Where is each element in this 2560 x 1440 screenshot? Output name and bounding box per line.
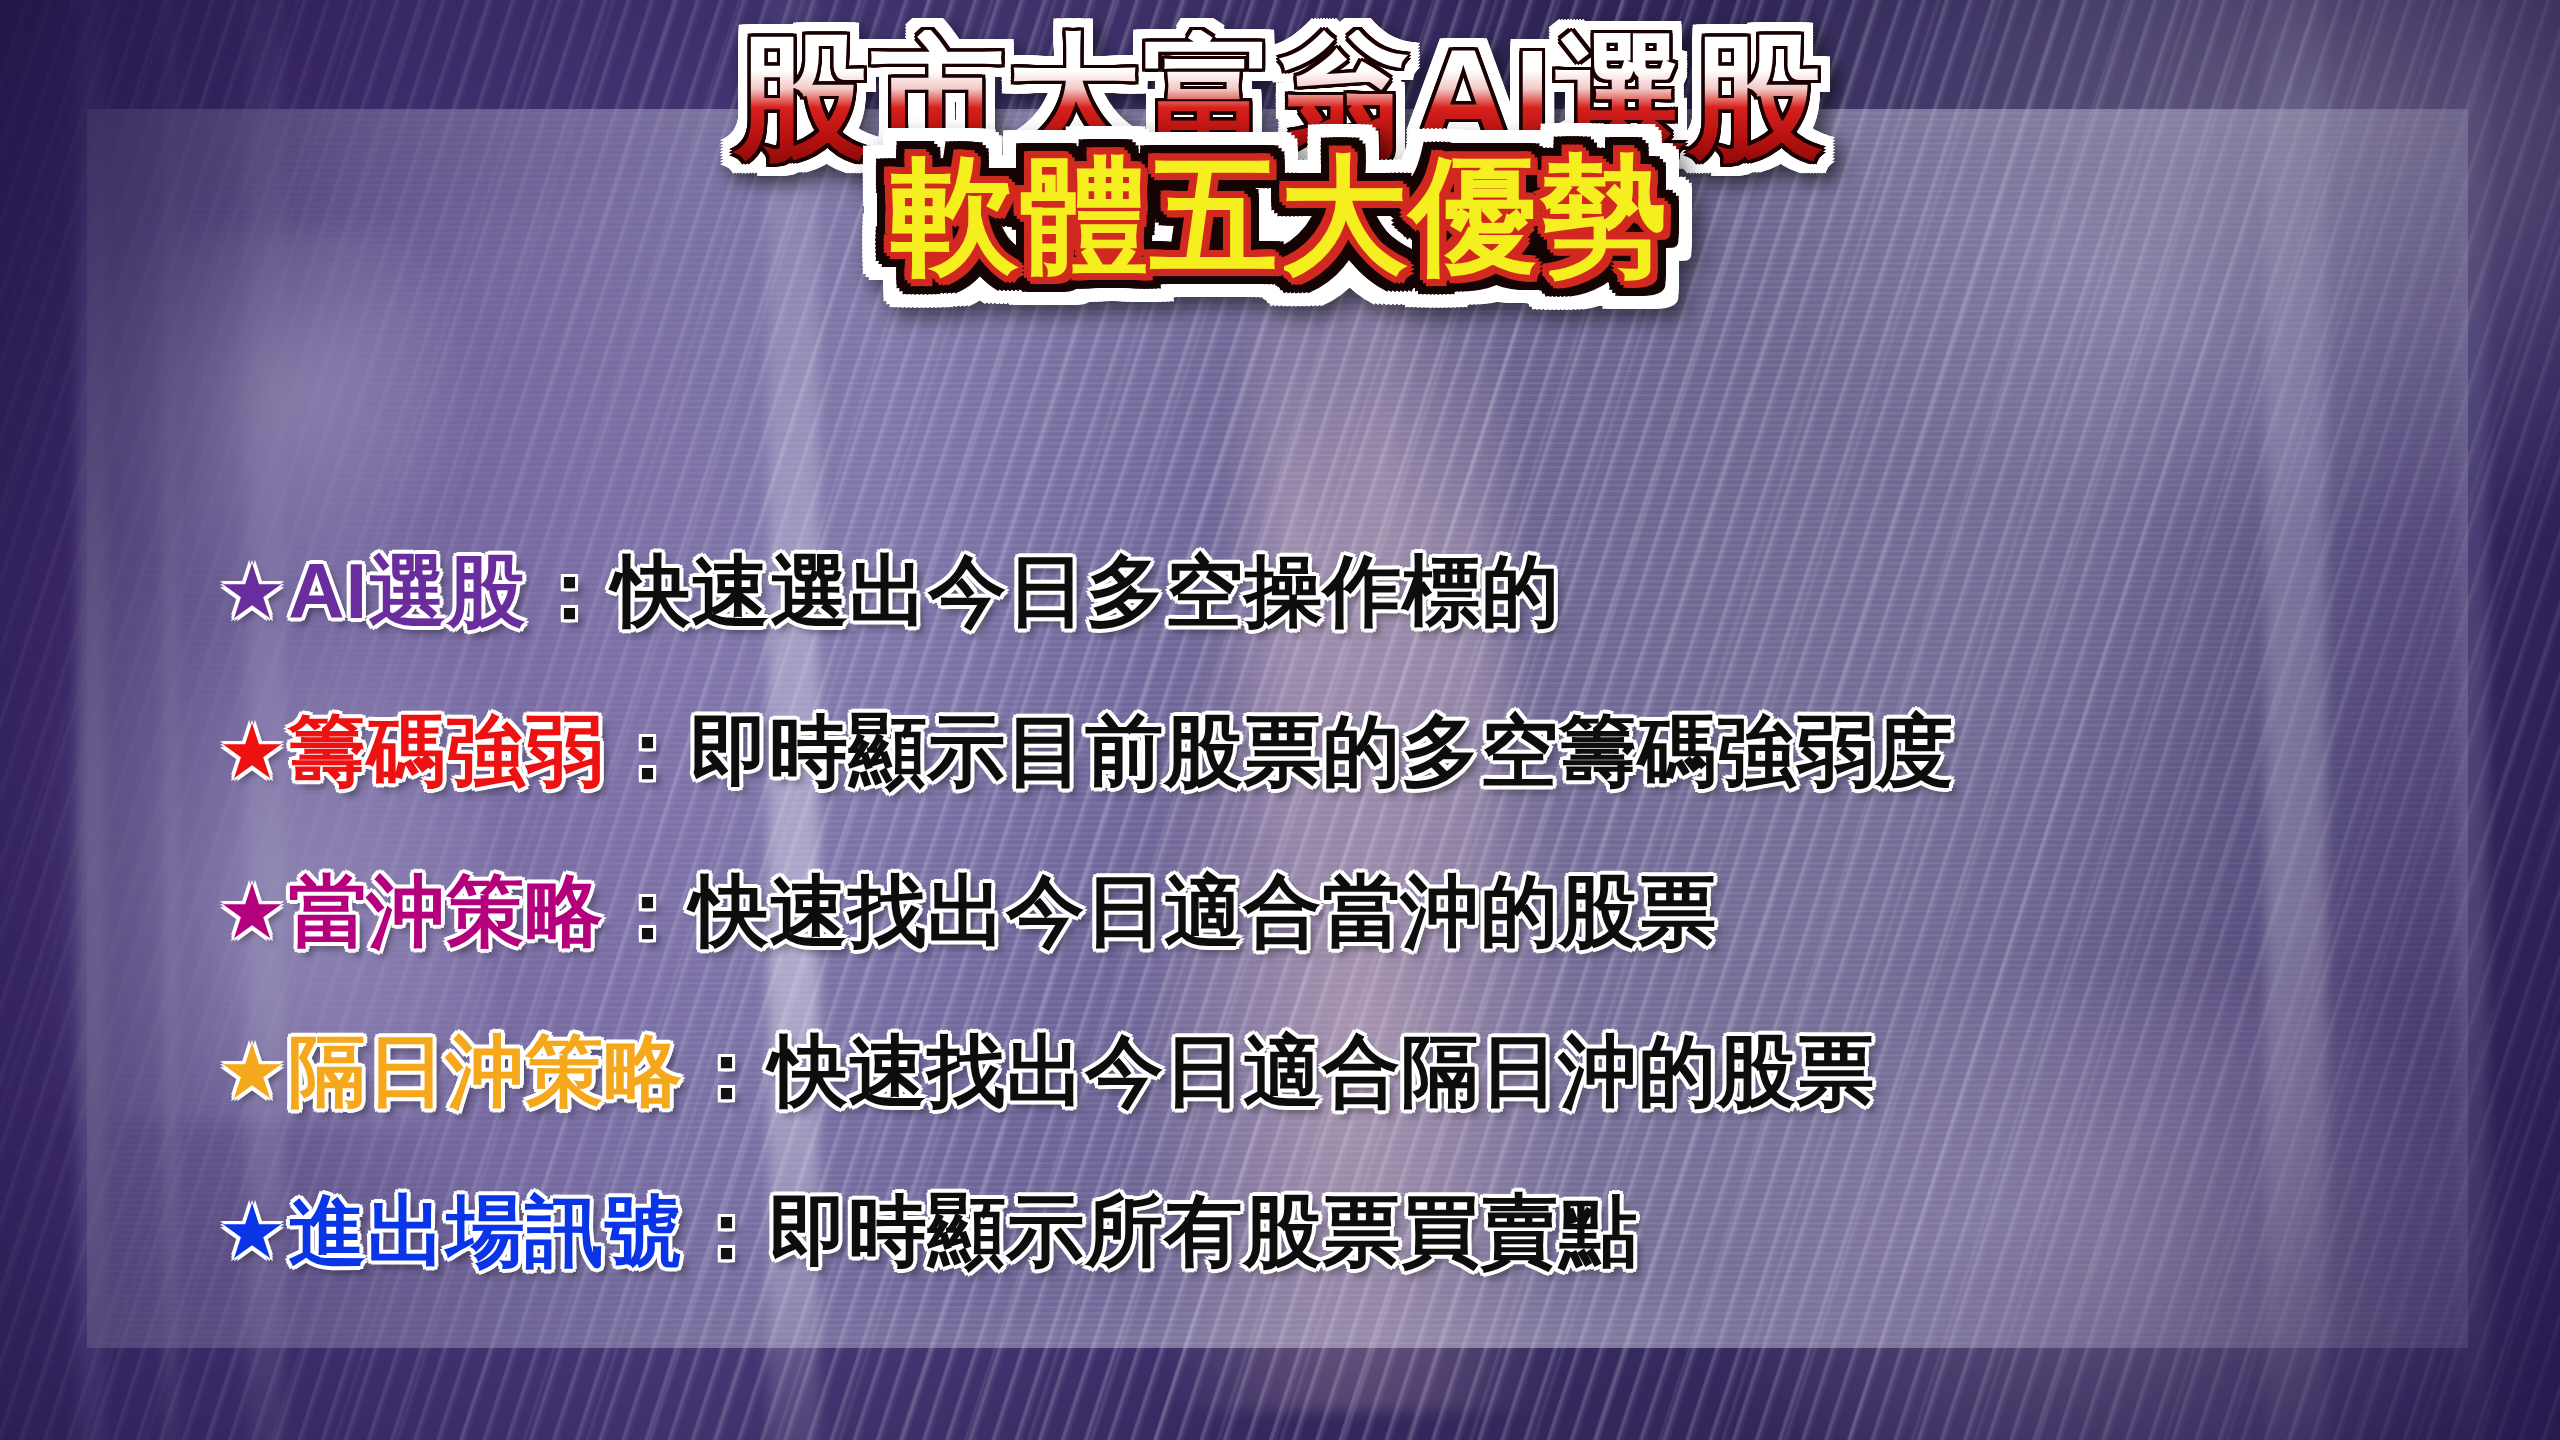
feature-list-item: ★當沖策略：快速找出今日適合當沖的股票 xyxy=(218,860,2560,1020)
star-icon: ★ xyxy=(218,554,286,630)
feature-item-separator: ： xyxy=(683,1020,769,1125)
feature-item-description: 即時顯示目前股票的多空籌碼強弱度 xyxy=(690,700,1954,805)
poster-headline: 股市大富翁AI選股 軟體五大優勢 xyxy=(0,30,2560,280)
feature-list: ★AI選股：快速選出今日多空操作標的★籌碼強弱：即時顯示目前股票的多空籌碼強弱度… xyxy=(0,540,2560,1340)
feature-item-key: 籌碼強弱 xyxy=(288,700,604,805)
feature-list-item: ★進出場訊號：即時顯示所有股票買賣點 xyxy=(218,1180,2560,1340)
star-icon: ★ xyxy=(218,714,286,790)
star-icon: ★ xyxy=(218,1034,286,1110)
feature-list-item: ★隔日沖策略：快速找出今日適合隔日沖的股票 xyxy=(218,1020,2560,1180)
poster-canvas: 股市大富翁AI選股 軟體五大優勢 ★AI選股：快速選出今日多空操作標的★籌碼強弱… xyxy=(0,0,2560,1440)
feature-item-separator: ： xyxy=(526,540,612,645)
headline-line-2: 軟體五大優勢 xyxy=(0,152,2560,280)
feature-item-key: AI選股 xyxy=(288,540,526,645)
feature-list-item: ★籌碼強弱：即時顯示目前股票的多空籌碼強弱度 xyxy=(218,700,2560,860)
feature-item-separator: ： xyxy=(604,700,690,805)
star-icon: ★ xyxy=(218,874,286,950)
feature-item-description: 即時顯示所有股票買賣點 xyxy=(769,1180,1638,1285)
feature-item-separator: ： xyxy=(683,1180,769,1285)
poster-content: 股市大富翁AI選股 軟體五大優勢 ★AI選股：快速選出今日多空操作標的★籌碼強弱… xyxy=(0,0,2560,1440)
feature-item-key: 隔日沖策略 xyxy=(288,1020,683,1125)
feature-item-description: 快速找出今日適合當沖的股票 xyxy=(690,860,1717,965)
feature-list-item: ★AI選股：快速選出今日多空操作標的 xyxy=(218,540,2560,700)
feature-item-description: 快速選出今日多空操作標的 xyxy=(612,540,1560,645)
feature-item-key: 進出場訊號 xyxy=(288,1180,683,1285)
feature-item-separator: ： xyxy=(604,860,690,965)
star-icon: ★ xyxy=(218,1194,286,1270)
feature-item-description: 快速找出今日適合隔日沖的股票 xyxy=(769,1020,1875,1125)
feature-item-key: 當沖策略 xyxy=(288,860,604,965)
